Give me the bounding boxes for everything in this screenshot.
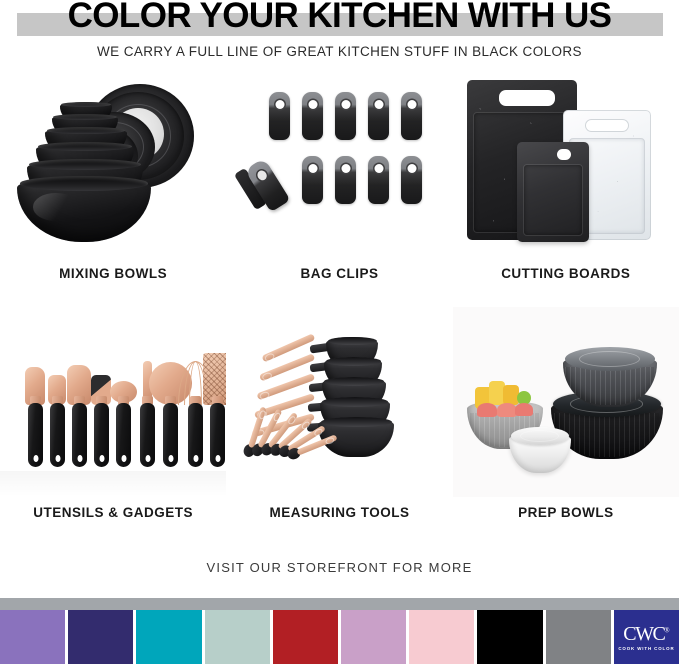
color-swatch-orchid-pink	[341, 610, 409, 664]
product-label-cutting-boards: CUTTING BOARDS	[453, 266, 679, 281]
color-swatch-sage-mint	[205, 610, 273, 664]
color-swatch-navy-indigo	[68, 610, 136, 664]
product-label-mixing-bowls: MIXING BOWLS	[0, 266, 226, 281]
product-label-bag-clips: BAG CLIPS	[226, 266, 452, 281]
utensils-image	[0, 307, 226, 497]
brand-logo[interactable]: CWC® COOK WITH COLOR	[614, 610, 679, 664]
page-header: COLOR YOUR KITCHEN WITH US WE CARRY A FU…	[0, 0, 679, 60]
product-row-1: MIXING BOWLS BAG CLIPS	[0, 72, 679, 307]
product-cell-bag-clips[interactable]: BAG CLIPS	[226, 72, 452, 307]
logo-registered-mark: ®	[664, 626, 669, 634]
color-swatch-row: CWC® COOK WITH COLOR	[0, 610, 679, 664]
product-label-utensils: UTENSILS & GADGETS	[0, 505, 226, 520]
product-cell-measuring-tools[interactable]: MEASURING TOOLS	[226, 307, 452, 542]
page-title: COLOR YOUR KITCHEN WITH US	[0, 0, 679, 36]
product-cell-prep-bowls[interactable]: PREP BOWLS	[453, 307, 679, 542]
product-label-prep-bowls: PREP BOWLS	[453, 505, 679, 520]
mixing-bowls-image	[0, 72, 226, 262]
logo-tagline: COOK WITH COLOR	[618, 646, 674, 651]
color-swatch-blush-pink	[409, 610, 477, 664]
color-swatch-gray	[546, 610, 614, 664]
measuring-tools-image	[226, 307, 452, 497]
page-subtitle: WE CARRY A FULL LINE OF GREAT KITCHEN ST…	[0, 44, 679, 59]
product-cell-utensils[interactable]: UTENSILS & GADGETS	[0, 307, 226, 542]
cutting-boards-image	[453, 72, 679, 262]
prep-bowls-image	[453, 307, 679, 497]
color-swatch-purple	[0, 610, 68, 664]
product-label-measuring-tools: MEASURING TOOLS	[226, 505, 452, 520]
storefront-cta[interactable]: VISIT OUR STOREFRONT FOR MORE	[0, 560, 679, 575]
color-swatch-black	[477, 610, 545, 664]
product-cell-mixing-bowls[interactable]: MIXING BOWLS	[0, 72, 226, 307]
color-swatch-red	[273, 610, 341, 664]
bag-clips-image	[226, 72, 452, 262]
color-strip-gray-band	[0, 598, 679, 610]
product-row-2: UTENSILS & GADGETS	[0, 307, 679, 542]
product-grid: MIXING BOWLS BAG CLIPS	[0, 72, 679, 542]
logo-mark-text: CWC	[623, 623, 664, 645]
logo-wordmark: CWC®	[623, 624, 669, 644]
color-swatch-teal	[136, 610, 204, 664]
product-cell-cutting-boards[interactable]: CUTTING BOARDS	[453, 72, 679, 307]
color-strip: CWC® COOK WITH COLOR	[0, 598, 679, 664]
